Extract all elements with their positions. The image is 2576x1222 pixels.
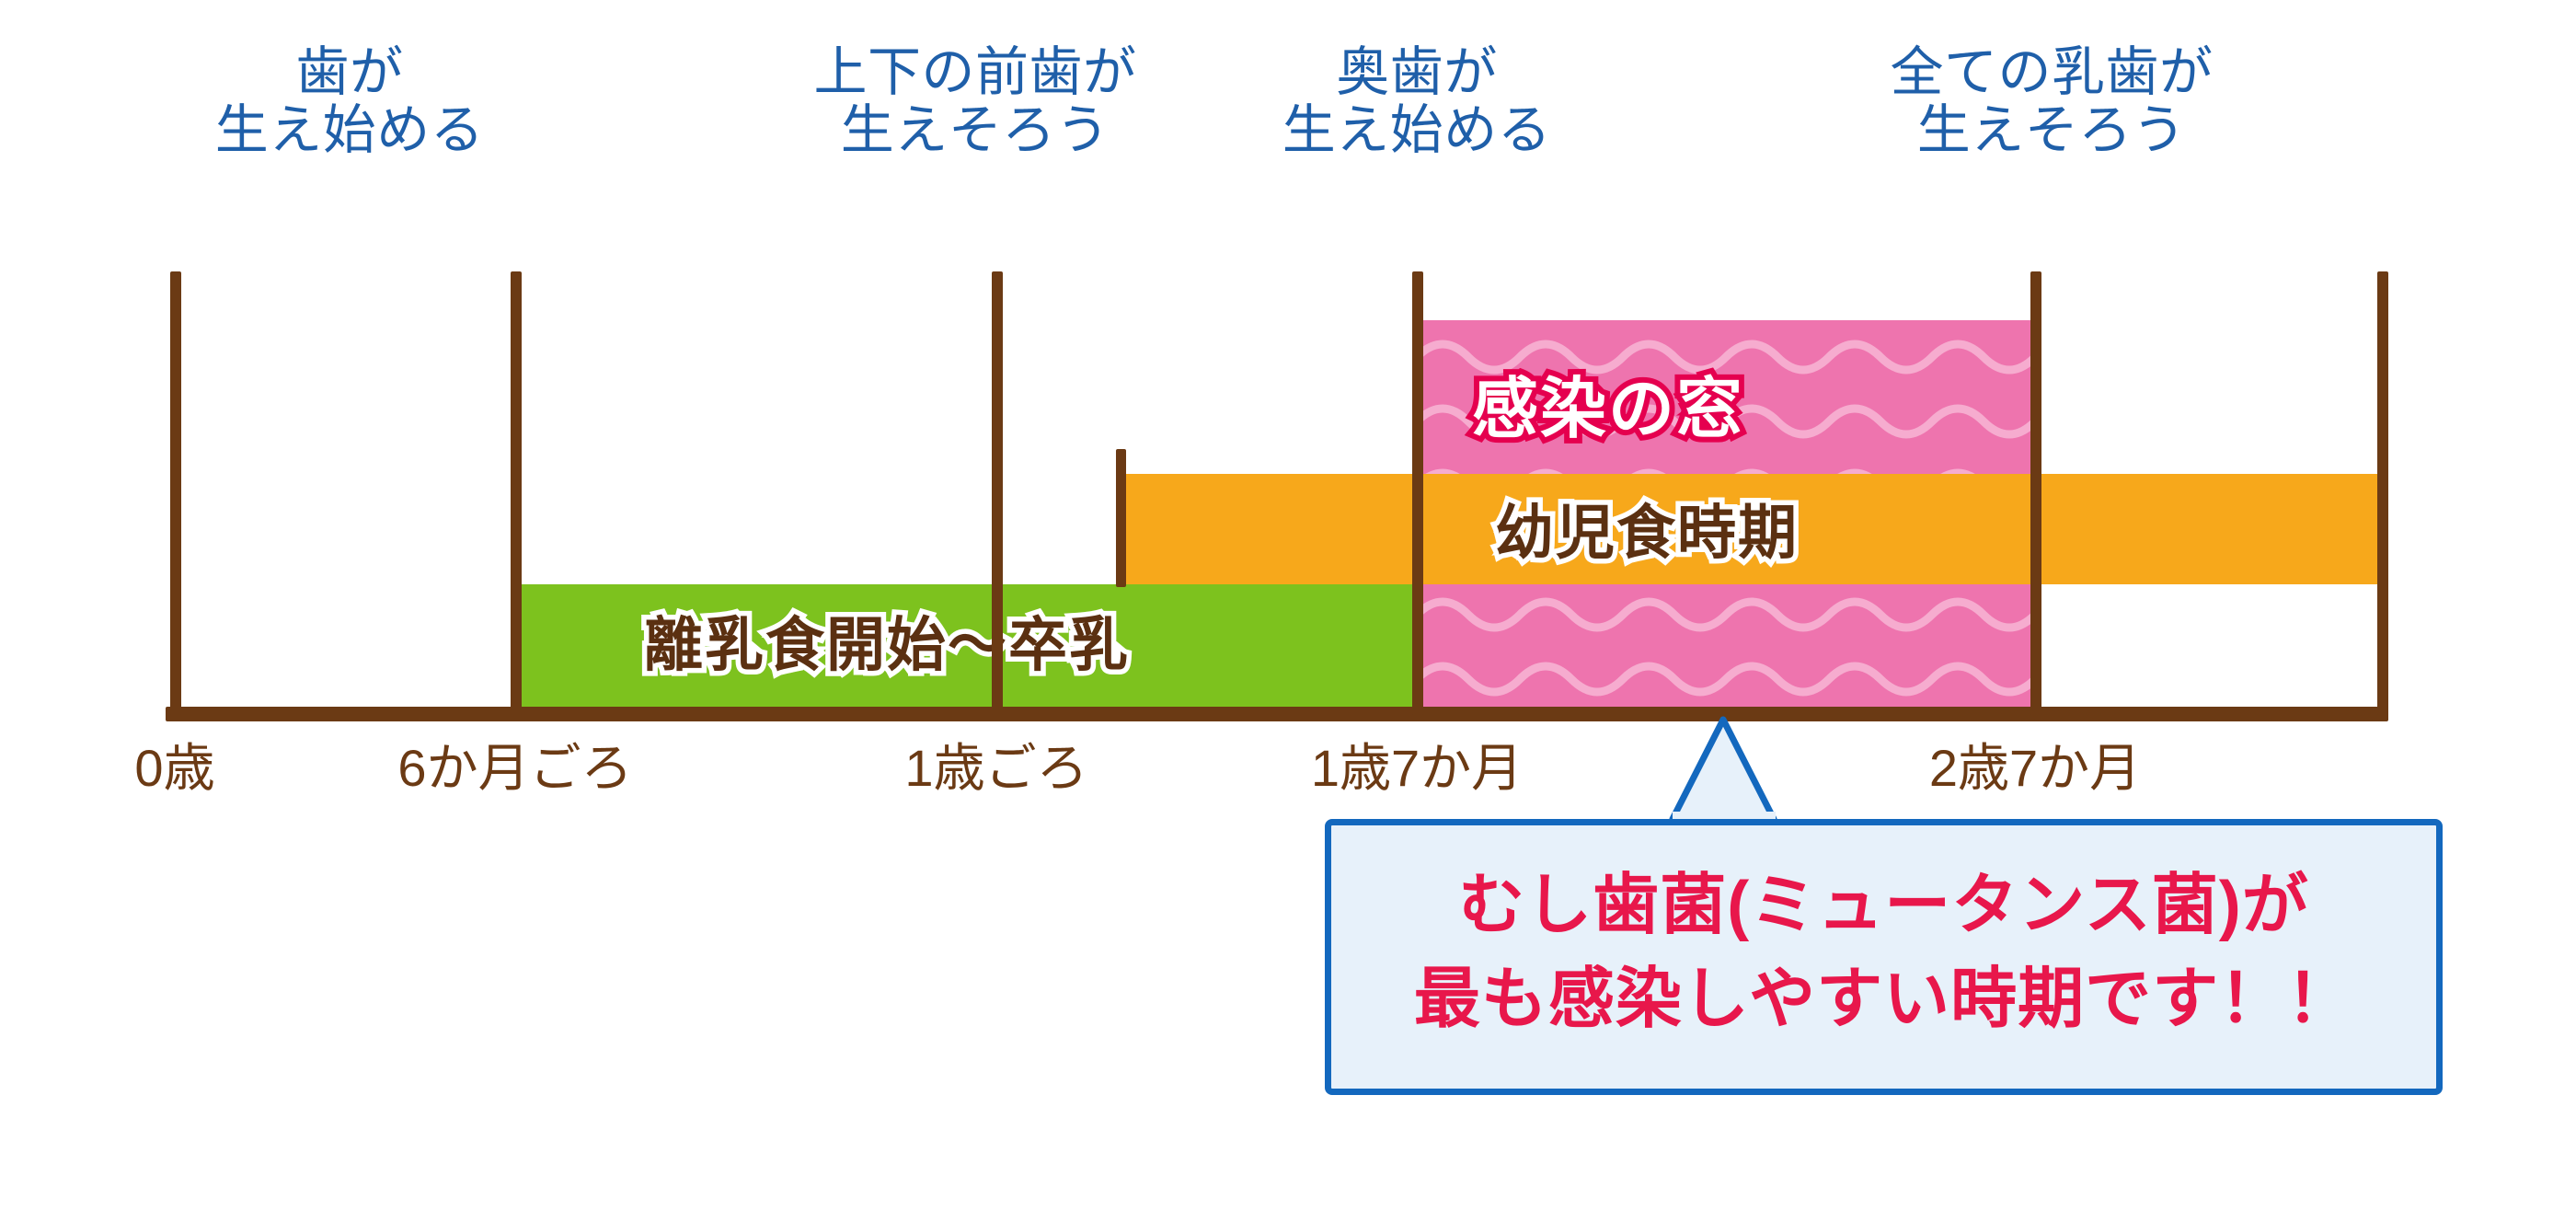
axis-label-1-year-7-months: 1歳7か月 — [1260, 727, 1573, 801]
axis-baseline — [166, 707, 2388, 721]
axis-tick-2-years-7-months — [2030, 271, 2041, 716]
axis-tick-right-end — [2377, 271, 2388, 716]
infection-warning-callout: むし歯菌(ミュータンス菌)が 最も感染しやすい時期です！！ — [1325, 819, 2443, 1095]
band-label-weaning-period: 離乳食開始〜卒乳 — [644, 598, 1130, 683]
axis-label-2-years-7-months: 2歳7か月 — [1879, 727, 2191, 801]
axis-tick-0-years — [170, 271, 181, 716]
milestone-label-teeth-start: 歯が 生え始める — [166, 44, 534, 159]
timeline-infographic: 歯が 生え始める 上下の前歯が 生えそろう 奥歯が 生え始める 全ての乳歯が 生… — [0, 0, 2576, 1222]
callout-pointer-icon — [1619, 716, 1831, 826]
axis-tick-1-year — [992, 271, 1003, 716]
milestone-label-all-baby-teeth-complete: 全ての乳歯が 生えそろう — [1803, 44, 2300, 159]
axis-label-6-months: 6か月ごろ — [350, 727, 681, 801]
axis-tick-toddler-food-start — [1116, 449, 1126, 587]
milestone-label-front-teeth-complete: 上下の前歯が 生えそろう — [736, 44, 1214, 159]
band-label-infection-window: 感染の窓 — [1472, 354, 1744, 451]
axis-label-0-years: 0歳 — [83, 727, 267, 801]
axis-label-1-year: 1歳ごろ — [854, 727, 1139, 801]
axis-tick-6-months — [511, 271, 522, 716]
milestone-label-molars-start: 奥歯が 生え始める — [1214, 44, 1619, 159]
band-label-toddler-food-period: 幼児食時期 — [1495, 486, 1799, 571]
axis-tick-1-year-7-months — [1412, 271, 1423, 716]
callout-message: むし歯菌(ミュータンス菌)が 最も感染しやすい時期です！！ — [1331, 859, 2436, 1046]
